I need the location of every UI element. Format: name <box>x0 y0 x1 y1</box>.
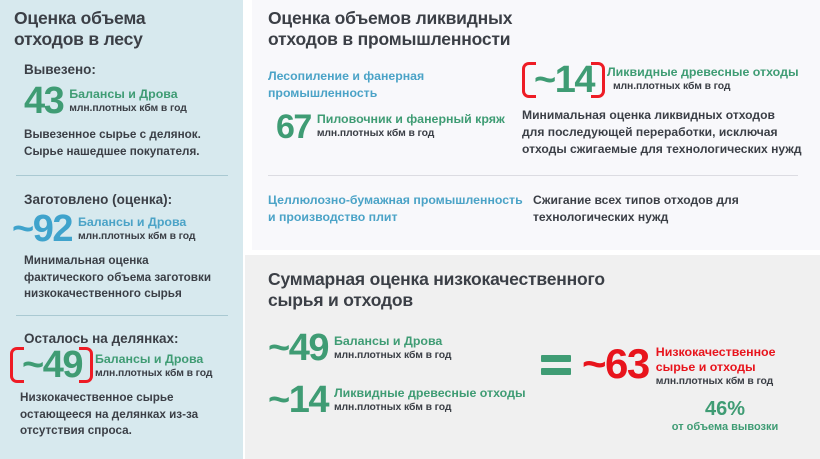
equals-icon <box>541 355 571 375</box>
summary-total-value: ~63 <box>582 345 649 383</box>
summary-total-stat: ~63 Низкокачественное сырье и отходы млн… <box>582 345 776 389</box>
industry-waste-panel: Оценка объемов ликвидных отходов в промы… <box>252 0 820 250</box>
block-removed-desc-line2: Сырье нашедшее покупателя. <box>24 144 234 161</box>
block-harvested-label: Балансы и Дрова <box>78 215 195 230</box>
liquid-waste-note: Минимальная оценка ликвидных отходов для… <box>522 107 820 158</box>
summary-title-line1: Суммарная оценка низкокачественного <box>268 269 738 290</box>
summary-balances-value: ~49 <box>268 331 328 365</box>
summary-balances-unit: млн.плотных кбм в год <box>334 349 451 363</box>
industry-title-line2: отходов в промышленности <box>268 29 688 50</box>
pulp-paper-note-line1: Сжигание всех типов отходов для <box>533 192 820 209</box>
sawmill-input-unit: млн.плотных кбм в год <box>317 127 505 141</box>
summary-liquid-label: Ликвидные древесные отходы <box>334 386 526 401</box>
left-panel-title-line2: отходов в лесу <box>14 29 229 50</box>
block-harvested-description: Минимальная оценка фактического объема з… <box>24 253 239 303</box>
block-left-onsite-label: Балансы и Дрова <box>95 352 212 367</box>
liquid-waste-note-line2: для последующей переработки, исключая <box>522 124 820 141</box>
left-panel-title-line1: Оценка объема <box>14 8 229 29</box>
block-left-onsite-desc-line2: остающееся на делянках из-за <box>20 407 238 424</box>
summary-total-unit: млн.плотных кбм в год <box>656 375 776 389</box>
forest-waste-panel: Оценка объема отходов в лесу Вывезено: 4… <box>0 0 243 459</box>
summary-total-label-line2: сырье и отходы <box>656 360 776 375</box>
liquid-waste-note-line1: Минимальная оценка ликвидных отходов <box>522 107 820 124</box>
sawmill-category-line1: Лесопиление и фанерная <box>268 68 518 85</box>
summary-percentage-caption: от объема вывозки <box>645 420 805 434</box>
block-harvested-stat: ~92 Балансы и Дрова млн.плотных кбм в го… <box>12 212 195 246</box>
left-divider-1 <box>16 175 228 176</box>
red-bracket-highlight: ~49 <box>10 347 93 383</box>
summary-balances-label: Балансы и Дрова <box>334 334 451 349</box>
block-left-onsite-stat: ~49 Балансы и Дрова млн.плотных кбм в го… <box>10 347 212 383</box>
block-harvested-value: ~92 <box>12 212 72 246</box>
left-panel-title: Оценка объема отходов в лесу <box>14 8 229 50</box>
summary-item-liquid-waste: ~14 Ликвидные древесные отходы млн.плотн… <box>268 383 526 417</box>
pulp-paper-note: Сжигание всех типов отходов для технолог… <box>533 192 820 226</box>
sawmill-input-stat: 67 Пиловочник и фанерный кряж млн.плотны… <box>276 112 505 143</box>
industry-divider <box>268 175 798 176</box>
block-removed-label: Балансы и Дрова <box>69 87 186 102</box>
block-left-onsite-desc-line3: отсутствия спроса. <box>20 423 238 440</box>
block-removed-desc-line1: Вывезенное сырье с делянок. <box>24 127 234 144</box>
block-left-onsite-desc-line1: Низкокачественное сырье <box>20 390 238 407</box>
liquid-waste-stat: ~14 Ликвидные древесные отходы млн.плотн… <box>522 62 799 98</box>
block-removed-heading: Вывезено: <box>24 62 96 78</box>
sawmill-category: Лесопиление и фанерная промышленность <box>268 68 518 101</box>
sawmill-category-line2: промышленность <box>268 85 518 102</box>
block-removed-description: Вывезенное сырье с делянок. Сырье нашедш… <box>24 127 234 160</box>
block-removed-unit: млн.плотных кбм в год <box>69 102 186 116</box>
pulp-paper-category: Целлюлозно-бумажная промышленность и про… <box>268 192 533 225</box>
industry-title-line1: Оценка объемов ликвидных <box>268 8 688 29</box>
red-bracket-highlight-waste: ~14 <box>522 62 605 98</box>
summary-item-balances: ~49 Балансы и Дрова млн.плотных кбм в го… <box>268 331 451 365</box>
block-removed-value: 43 <box>24 84 63 118</box>
summary-liquid-value: ~14 <box>268 383 328 417</box>
sawmill-input-value: 67 <box>276 112 311 143</box>
block-harvested-desc-line2: фактического объема заготовки <box>24 270 239 287</box>
block-left-onsite-value: ~49 <box>22 348 82 382</box>
infographic-canvas: Оценка объема отходов в лесу Вывезено: 4… <box>0 0 820 459</box>
block-harvested-desc-line3: низкокачественного сырья <box>24 286 239 303</box>
block-left-onsite-unit: млн.плотных кбм в год <box>95 367 212 381</box>
summary-title-line2: сырья и отходов <box>268 290 738 311</box>
pulp-paper-category-line2: и производство плит <box>268 209 533 226</box>
summary-liquid-unit: млн.плотных кбм в год <box>334 401 526 415</box>
pulp-paper-note-line2: технологических нужд <box>533 209 820 226</box>
block-removed-stat: 43 Балансы и Дрова млн.плотных кбм в год <box>24 84 187 118</box>
sawmill-input-label: Пиловочник и фанерный кряж <box>317 112 505 127</box>
block-harvested-unit: млн.плотных кбм в год <box>78 230 195 244</box>
industry-panel-title: Оценка объемов ликвидных отходов в промы… <box>268 8 688 50</box>
block-harvested-desc-line1: Минимальная оценка <box>24 253 239 270</box>
summary-total-label-line1: Низкокачественное <box>656 345 776 360</box>
liquid-waste-value: ~14 <box>534 63 594 97</box>
summary-panel: Суммарная оценка низкокачественного сырь… <box>245 255 820 459</box>
liquid-waste-label: Ликвидные древесные отходы <box>607 65 799 80</box>
summary-percentage-value: 46% <box>645 398 805 420</box>
summary-title: Суммарная оценка низкокачественного сырь… <box>268 269 738 311</box>
pulp-paper-category-line1: Целлюлозно-бумажная промышленность <box>268 192 533 209</box>
summary-percentage: 46% от объема вывозки <box>645 398 805 434</box>
left-divider-2 <box>16 315 228 316</box>
block-harvested-heading: Заготовлено (оценка): <box>24 192 172 208</box>
liquid-waste-note-line3: отходы сжигаемые для технологических нуж… <box>522 141 820 158</box>
liquid-waste-unit: млн.плотных кбм в год <box>607 80 799 94</box>
block-left-onsite-description: Низкокачественное сырье остающееся на де… <box>20 390 238 440</box>
